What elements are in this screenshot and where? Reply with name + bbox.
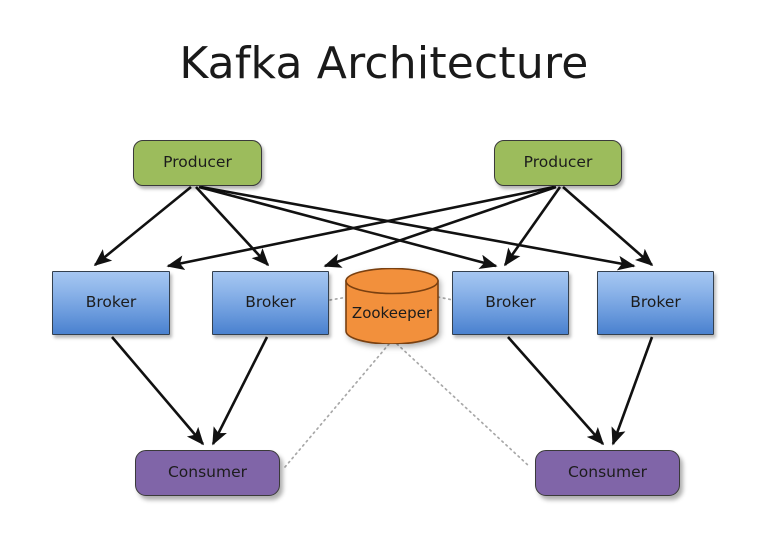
node-consumer-1[interactable]: Consumer (135, 450, 280, 496)
edge-broker4-consumer2 (613, 337, 652, 444)
node-consumer-2[interactable]: Consumer (535, 450, 680, 496)
broker-to-consumer-edges (112, 337, 652, 444)
node-zookeeper[interactable]: Zookeeper (344, 268, 440, 344)
broker-1-label: Broker (86, 295, 136, 311)
broker-2-label: Broker (245, 295, 295, 311)
edge-zookeeper-consumer2 (397, 344, 530, 467)
node-producer-1[interactable]: Producer (133, 140, 262, 186)
edge-zookeeper-consumer1 (285, 344, 389, 467)
node-producer-2[interactable]: Producer (494, 140, 622, 186)
edge-producer1-broker3 (199, 187, 496, 266)
broker-4-label: Broker (630, 295, 680, 311)
page-title: Kafka Architecture (0, 38, 768, 89)
edge-producer1-broker2 (196, 187, 268, 265)
edge-producer2-broker1 (168, 187, 554, 266)
broker-3-label: Broker (485, 295, 535, 311)
edge-producer2-broker3 (505, 187, 560, 265)
edge-producer2-broker4 (563, 187, 652, 265)
edge-producer2-broker2 (325, 187, 556, 266)
consumer-1-label: Consumer (168, 465, 247, 481)
edge-zookeeper-broker3 (438, 297, 453, 300)
edge-producer1-broker1 (95, 187, 191, 265)
edge-broker2-consumer1 (213, 337, 267, 444)
producer-2-label: Producer (524, 155, 593, 171)
node-broker-2[interactable]: Broker (212, 271, 329, 335)
edge-broker3-consumer2 (508, 337, 603, 444)
producer-to-broker-edges (95, 187, 652, 266)
zookeeper-cylinder-icon (344, 268, 440, 344)
edge-producer1-broker4 (201, 187, 634, 266)
node-broker-3[interactable]: Broker (452, 271, 569, 335)
edge-broker1-consumer1 (112, 337, 203, 444)
node-broker-1[interactable]: Broker (52, 271, 170, 335)
diagram-canvas: Kafka Architecture (0, 0, 768, 554)
node-broker-4[interactable]: Broker (597, 271, 714, 335)
consumer-2-label: Consumer (568, 465, 647, 481)
producer-1-label: Producer (163, 155, 232, 171)
